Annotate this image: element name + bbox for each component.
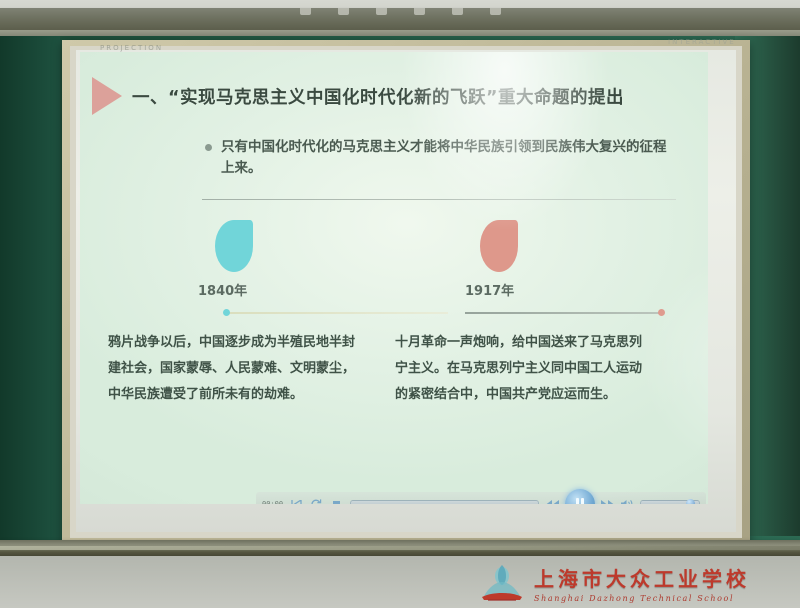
timeline-pin-right: [480, 220, 518, 272]
chalkboard-left-panel: [0, 36, 60, 546]
slide-text-column-right: 十月革命一声炮响，给中国送来了马克思列宁主义。在马克思列宁主义同中国工人运动的紧…: [395, 330, 645, 408]
trim-notch: [338, 8, 349, 15]
timeline-node-right: [658, 309, 665, 316]
map-pin-icon: [215, 220, 253, 272]
trim-notch: [414, 8, 425, 15]
triangle-right-icon: [92, 77, 122, 115]
map-pin-icon: [480, 220, 518, 272]
trim-notch: [490, 8, 501, 15]
timeline-segment-left: [228, 312, 448, 314]
pause-button[interactable]: [565, 489, 595, 504]
trim-notch: [452, 8, 463, 15]
projector-brand-left-label: PROJECTION: [100, 44, 163, 52]
timeline-segment-right: [465, 312, 660, 314]
timeline-pin-left: [215, 220, 253, 272]
school-emblem-icon: [476, 563, 528, 603]
loop-button[interactable]: [306, 495, 326, 504]
timeline-year-right: 1917年: [465, 280, 514, 299]
slide-bullet: 只有中国化时代化的马克思主义才能将中华民族引领到民族伟大复兴的征程上来。: [205, 137, 675, 179]
seek-bar[interactable]: [350, 500, 539, 504]
slide-divider: [202, 199, 676, 200]
school-name-chinese: 上海市大众工业学校: [534, 563, 750, 592]
slide-title: 一、“实现马克思主义中国化时代化新的飞跃”重大命题的提出: [132, 84, 624, 109]
classroom-scene: PROJECTION INTERACTIVE 一、“实现马克思主义中国化时代化新…: [0, 0, 800, 608]
timeline-year-left: 1840年: [198, 280, 247, 299]
bullet-dot-icon: [205, 144, 212, 151]
playback-time: 00:00: [262, 500, 286, 504]
pause-icon: [575, 498, 585, 504]
school-logo-text: 上海市大众工业学校 Shanghai Dazhong Technical Sch…: [534, 563, 750, 603]
projector-glare-secondary: [640, 252, 708, 472]
media-player-controls[interactable]: 00:00: [256, 492, 706, 504]
chalk-tray-highlight: [0, 546, 800, 550]
fast-forward-button[interactable]: [597, 495, 617, 504]
timeline-node-left: [223, 309, 230, 316]
timeline-track: [210, 308, 680, 318]
school-logo: 上海市大众工业学校 Shanghai Dazhong Technical Sch…: [472, 560, 797, 606]
previous-track-button[interactable]: [286, 495, 306, 504]
rewind-button[interactable]: [543, 495, 563, 504]
projected-slide: 一、“实现马克思主义中国化时代化新的飞跃”重大命题的提出 只有中国化时代化的马克…: [80, 52, 708, 504]
volume-slider-knob[interactable]: [686, 499, 695, 504]
school-name-english: Shanghai Dazhong Technical School: [534, 594, 750, 603]
volume-icon[interactable]: [617, 495, 637, 504]
slide-bullet-text: 只有中国化时代化的马克思主义才能将中华民族引领到民族伟大复兴的征程上来。: [221, 137, 675, 179]
slide-text-column-left: 鸦片战争以后，中国逐步成为半殖民地半封建社会，国家蒙辱、人民蒙难、文明蒙尘，中华…: [108, 330, 358, 408]
projector-brand-right-label: INTERACTIVE: [668, 38, 736, 46]
slide-title-row: 一、“实现马克思主义中国化时代化新的飞跃”重大命题的提出: [88, 72, 700, 120]
trim-notch: [376, 8, 387, 15]
trim-notch: [300, 8, 311, 15]
stop-button[interactable]: [326, 495, 346, 504]
volume-slider[interactable]: [640, 500, 700, 504]
